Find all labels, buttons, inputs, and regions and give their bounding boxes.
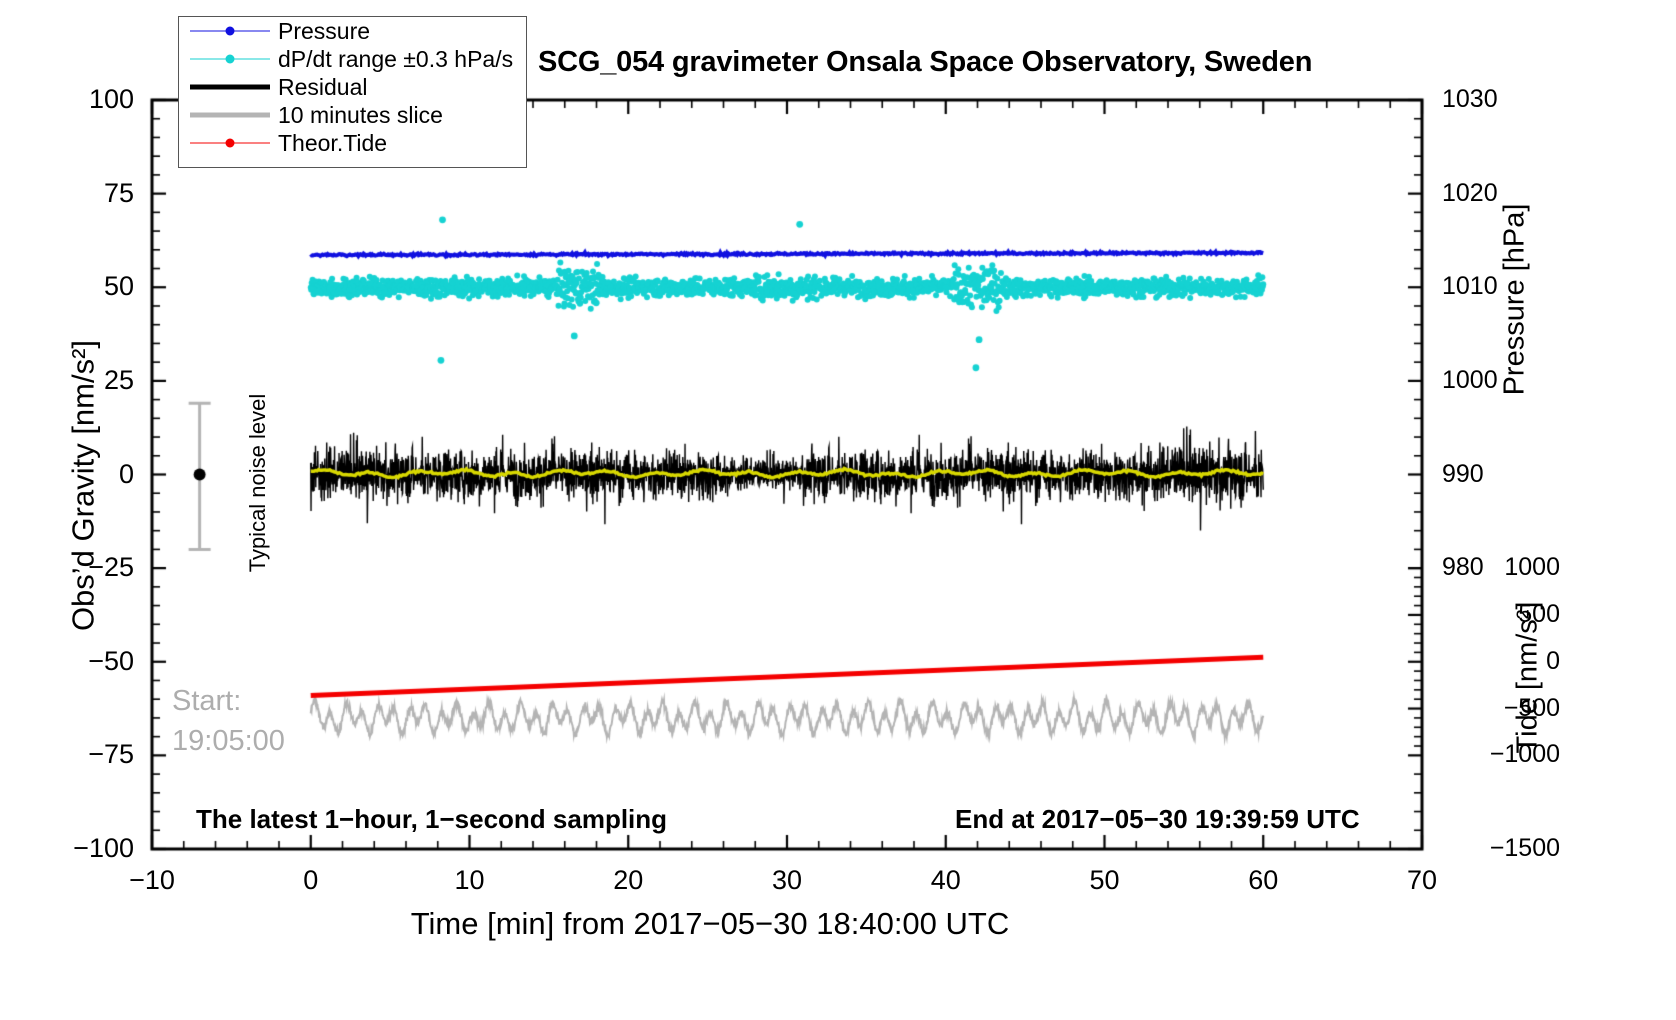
y-tick-pressure-4: 990	[1442, 462, 1552, 487]
legend-swatch-icon-0	[188, 21, 272, 41]
legend-label-4: Theor.Tide	[272, 130, 387, 157]
legend-swatch-icon-1	[188, 49, 272, 69]
x-tick-5: 40	[901, 867, 991, 894]
y-tick-left-4: 0	[39, 461, 134, 488]
chart-legend: PressuredP/dt range ±0.3 hPa/sResidual10…	[178, 16, 527, 168]
start-time-value: 19:05:00	[172, 727, 285, 756]
x-tick-2: 10	[425, 867, 515, 894]
y-tick-tide-4: −1000	[1442, 742, 1560, 767]
y-tick-tide-1: 500	[1442, 602, 1560, 627]
chart-title: SCG_054 gravimeter Onsala Space Observat…	[538, 48, 1312, 77]
y-tick-left-2: 50	[39, 273, 134, 300]
legend-swatch-icon-3	[188, 105, 272, 125]
legend-item-3[interactable]: 10 minutes slice	[179, 101, 526, 129]
y-tick-tide-3: −500	[1442, 696, 1560, 721]
y-tick-pressure-0: 1030	[1442, 87, 1552, 112]
y-tick-pressure-1: 1020	[1442, 181, 1552, 206]
x-tick-7: 60	[1218, 867, 1308, 894]
gravimeter-chart-figure: SCG_054 gravimeter Onsala Space Observat…	[0, 0, 1676, 1020]
y-tick-pressure-3: 1000	[1442, 368, 1552, 393]
x-tick-0: −10	[107, 867, 197, 894]
x-tick-6: 50	[1060, 867, 1150, 894]
y-tick-tide-5: −1500	[1442, 836, 1560, 861]
y-tick-pressure-2: 1010	[1442, 274, 1552, 299]
start-label: Start:	[172, 687, 241, 716]
x-tick-8: 70	[1377, 867, 1467, 894]
legend-item-1[interactable]: dP/dt range ±0.3 hPa/s	[179, 45, 526, 73]
y-tick-left-8: −100	[39, 835, 134, 862]
legend-item-4[interactable]: Theor.Tide	[179, 129, 526, 157]
legend-label-2: Residual	[272, 74, 368, 101]
y-tick-left-6: −50	[39, 648, 134, 675]
x-tick-1: 0	[266, 867, 356, 894]
y-tick-left-3: 25	[39, 367, 134, 394]
legend-item-2[interactable]: Residual	[179, 73, 526, 101]
typical-noise-level-label: Typical noise level	[247, 393, 269, 573]
x-axis-label: Time [min] from 2017−05−30 18:40:00 UTC	[0, 908, 1420, 939]
legend-label-1: dP/dt range ±0.3 hPa/s	[272, 46, 513, 73]
x-tick-3: 20	[583, 867, 673, 894]
y-axis-label-right-pressure: Pressure [hPa]	[1501, 85, 1530, 515]
y-tick-left-1: 75	[39, 180, 134, 207]
legend-label-3: 10 minutes slice	[272, 102, 443, 129]
legend-swatch-icon-4	[188, 133, 272, 153]
x-tick-4: 30	[742, 867, 832, 894]
footer-sampling-note: The latest 1−hour, 1−second sampling	[196, 806, 667, 832]
y-tick-tide-0: 1000	[1442, 555, 1560, 580]
y-tick-tide-2: 0	[1442, 649, 1560, 674]
legend-swatch-icon-2	[188, 77, 272, 97]
y-tick-left-0: 100	[39, 86, 134, 113]
y-tick-left-5: −25	[39, 554, 134, 581]
legend-label-0: Pressure	[272, 18, 370, 45]
y-tick-left-7: −75	[39, 741, 134, 768]
legend-item-0[interactable]: Pressure	[179, 17, 526, 45]
footer-end-time: End at 2017−05−30 19:39:59 UTC	[955, 806, 1360, 832]
